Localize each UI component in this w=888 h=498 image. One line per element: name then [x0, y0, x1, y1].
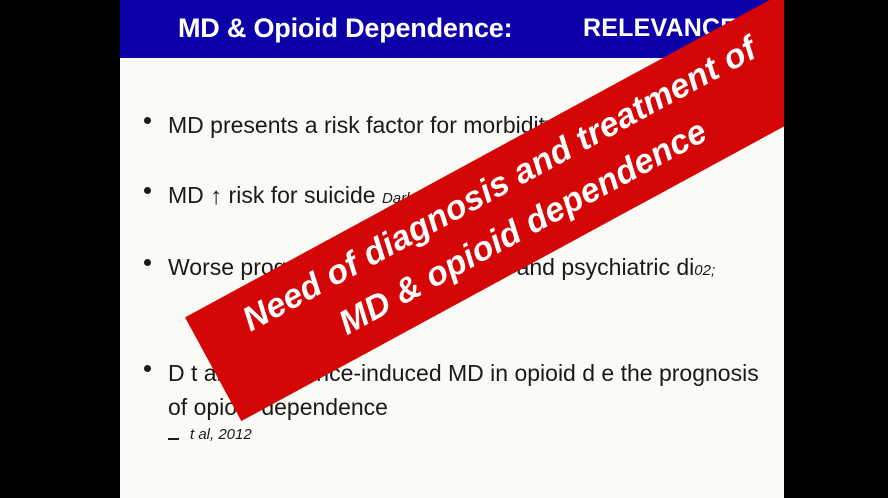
citation-3: 02;	[694, 262, 715, 279]
bullet-dot-icon	[144, 187, 151, 194]
letterbox-right	[784, 0, 888, 498]
letterbox-left	[0, 0, 120, 498]
dash-icon	[168, 438, 179, 440]
slide-title: MD & Opioid Dependence:	[178, 13, 512, 44]
bullet-dot-icon	[144, 117, 151, 124]
video-frame: MD & Opioid Dependence: RELEVANCE MD pre…	[0, 0, 888, 498]
presentation-slide: MD & Opioid Dependence: RELEVANCE MD pre…	[120, 0, 784, 498]
arrow-up-icon: ↑	[210, 180, 222, 214]
sub-bullet-citation: t al, 2012	[190, 426, 252, 443]
bullet-dot-icon	[144, 365, 151, 372]
bullet-dot-icon	[144, 259, 151, 266]
bullet-text-2-part2: risk for suicide	[222, 182, 382, 208]
bullet-text-2-part1: MD	[168, 182, 210, 208]
